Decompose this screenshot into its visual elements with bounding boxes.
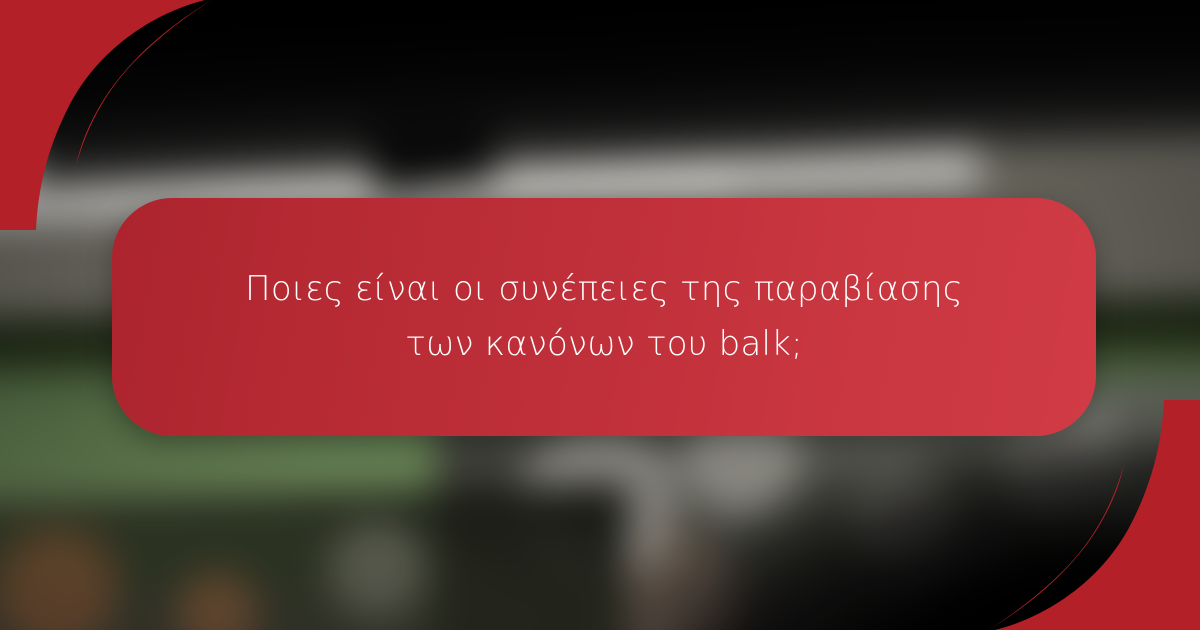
- question-card-graphic: Ποιες είναι οι συνέπειες της παραβίασης …: [0, 0, 1200, 630]
- question-card: Ποιες είναι οι συνέπειες της παραβίασης …: [112, 198, 1096, 436]
- question-text: Ποιες είναι οι συνέπειες της παραβίασης …: [209, 262, 999, 372]
